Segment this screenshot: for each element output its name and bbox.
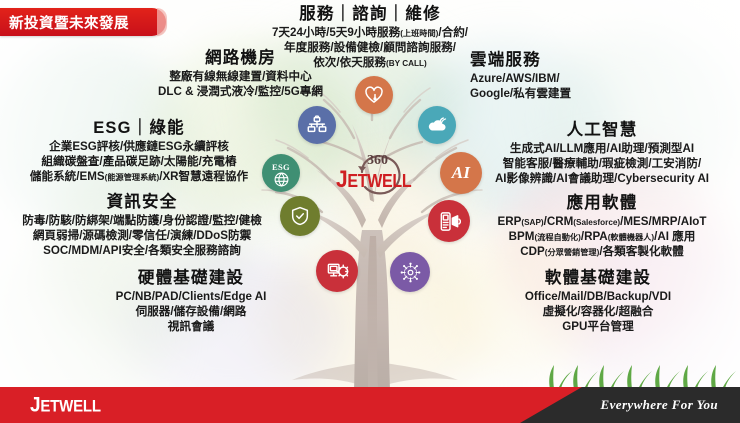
section-esg-line-2: 儲能系統/EMS(能源管理系統)/XR智慧遠程協作	[8, 170, 270, 185]
ribbon-label: 新投資暨未來發展	[9, 12, 129, 33]
footer-bar: JETWELL Everywhere For You	[0, 387, 740, 423]
hardware-infra-icon[interactable]	[316, 250, 358, 292]
infographic-poster: 新投資暨未來發展 ESG	[0, 0, 740, 423]
center-brand-mark: 360 JETWELL	[330, 150, 430, 206]
section-ai-line-1: 智能客服/醫療輔助/瑕疵檢測/工安消防/	[466, 157, 738, 172]
ai-icon[interactable]: AI	[440, 152, 482, 194]
section-swinfra-line-0: Office/Mail/DB/Backup/VDI	[458, 290, 738, 305]
section-netroom-title: 網路機房	[128, 48, 353, 69]
app-software-icon[interactable]	[428, 200, 470, 242]
section-appsw-line-2: CDP(分眾營銷管理)/各類客製化軟體	[466, 245, 738, 260]
section-cloud-line-0: Azure/AWS/IBM/	[470, 72, 690, 87]
section-hwinfra: 硬體基礎建設 PC/NB/PAD/Clients/Edge AI 伺服器/儲存設…	[66, 268, 316, 335]
heart-service-icon[interactable]	[355, 76, 393, 114]
section-ai-line-2: AI影像辨識/AI會議助理/Cybersecurity AI	[466, 172, 738, 187]
section-appsw-line-0: ERP(SAP)/CRM(Salesforce)/MES/MRP/AIoT	[466, 215, 738, 230]
ai-icon-label: AI	[452, 163, 471, 183]
cloud-service-icon[interactable]	[418, 106, 456, 144]
section-swinfra: 軟體基礎建設 Office/Mail/DB/Backup/VDI 虛擬化/容器化…	[458, 268, 738, 335]
header-ribbon: 新投資暨未來發展	[0, 8, 166, 36]
section-netroom-line-1: DLC & 浸潤式液冷/監控/5G專網	[128, 85, 353, 100]
section-ai-title: 人工智慧	[466, 120, 738, 141]
section-cloud: 雲端服務 Azure/AWS/IBM/ Google/私有雲建置	[470, 50, 690, 102]
section-esg-line-0: 企業ESG評核/供應鏈ESG永續評核	[8, 140, 270, 155]
section-infosec-line-1: 網頁弱掃/源碼檢測/零信任/演練/DDoS防禦	[8, 229, 276, 244]
section-esg-title: ESG｜綠能	[8, 118, 270, 139]
section-service-title: 服務｜諮詢｜維修	[250, 4, 490, 25]
footer-logo: JETWELL	[30, 394, 101, 419]
section-cloud-title: 雲端服務	[470, 50, 690, 71]
section-hwinfra-line-1: 伺服器/儲存設備/網路	[66, 305, 316, 320]
software-infra-icon[interactable]	[390, 252, 430, 292]
section-ai: 人工智慧 生成式AI/LLM應用/AI助理/預測型AI 智能客服/醫療輔助/瑕疵…	[466, 120, 738, 187]
section-cloud-line-1: Google/私有雲建置	[470, 87, 690, 102]
section-appsw-title: 應用軟體	[466, 193, 738, 214]
section-swinfra-line-1: 虛擬化/容器化/超融合	[458, 305, 738, 320]
footer-logo-rest: ETWELL	[40, 397, 100, 416]
section-hwinfra-title: 硬體基礎建設	[66, 268, 316, 289]
section-netroom: 網路機房 整廠有線無線建置/資料中心 DLC & 浸潤式液冷/監控/5G專網	[128, 48, 353, 100]
section-appsw: 應用軟體 ERP(SAP)/CRM(Salesforce)/MES/MRP/AI…	[466, 193, 738, 260]
shield-security-icon[interactable]	[280, 196, 320, 236]
section-swinfra-title: 軟體基礎建設	[458, 268, 738, 289]
footer-logo-initial: J	[30, 394, 40, 418]
section-hwinfra-line-2: 視訊會議	[66, 320, 316, 335]
grass-decoration	[540, 363, 740, 389]
section-infosec-line-2: SOC/MDM/API安全/各類安全服務諮詢	[8, 244, 276, 259]
section-swinfra-line-2: GPU平台管理	[458, 320, 738, 335]
section-infosec-title: 資訊安全	[8, 192, 276, 213]
esg-globe-icon[interactable]: ESG	[262, 154, 300, 192]
section-esg-line-1: 組織碳盤查/產品碳足跡/太陽能/充電樁	[8, 155, 270, 170]
section-hwinfra-line-0: PC/NB/PAD/Clients/Edge AI	[66, 290, 316, 305]
section-infosec: 資訊安全 防毒/防駭/防綁架/端點防護/身份認證/監控/健檢 網頁弱掃/源碼檢測…	[8, 192, 276, 259]
footer-slogan: Everywhere For You	[601, 397, 718, 413]
center-brand-rest: ETWELL	[347, 172, 411, 192]
section-appsw-line-1: BPM(流程自動化)/RPA(軟體機器人)/AI 應用	[466, 230, 738, 245]
section-ai-line-0: 生成式AI/LLM應用/AI助理/預測型AI	[466, 142, 738, 157]
section-netroom-line-0: 整廠有線無線建置/資料中心	[128, 70, 353, 85]
network-room-icon[interactable]	[298, 106, 336, 144]
section-infosec-line-0: 防毒/防駭/防綁架/端點防護/身份認證/監控/健檢	[8, 214, 276, 229]
section-service-line-0: 7天24小時/5天9小時服務(上班時間)/合約/	[250, 26, 490, 41]
center-brand-jetwell: JETWELL	[336, 166, 411, 194]
section-esg: ESG｜綠能 企業ESG評核/供應鏈ESG永續評核 組織碳盤查/產品碳足跡/太陽…	[8, 118, 270, 185]
